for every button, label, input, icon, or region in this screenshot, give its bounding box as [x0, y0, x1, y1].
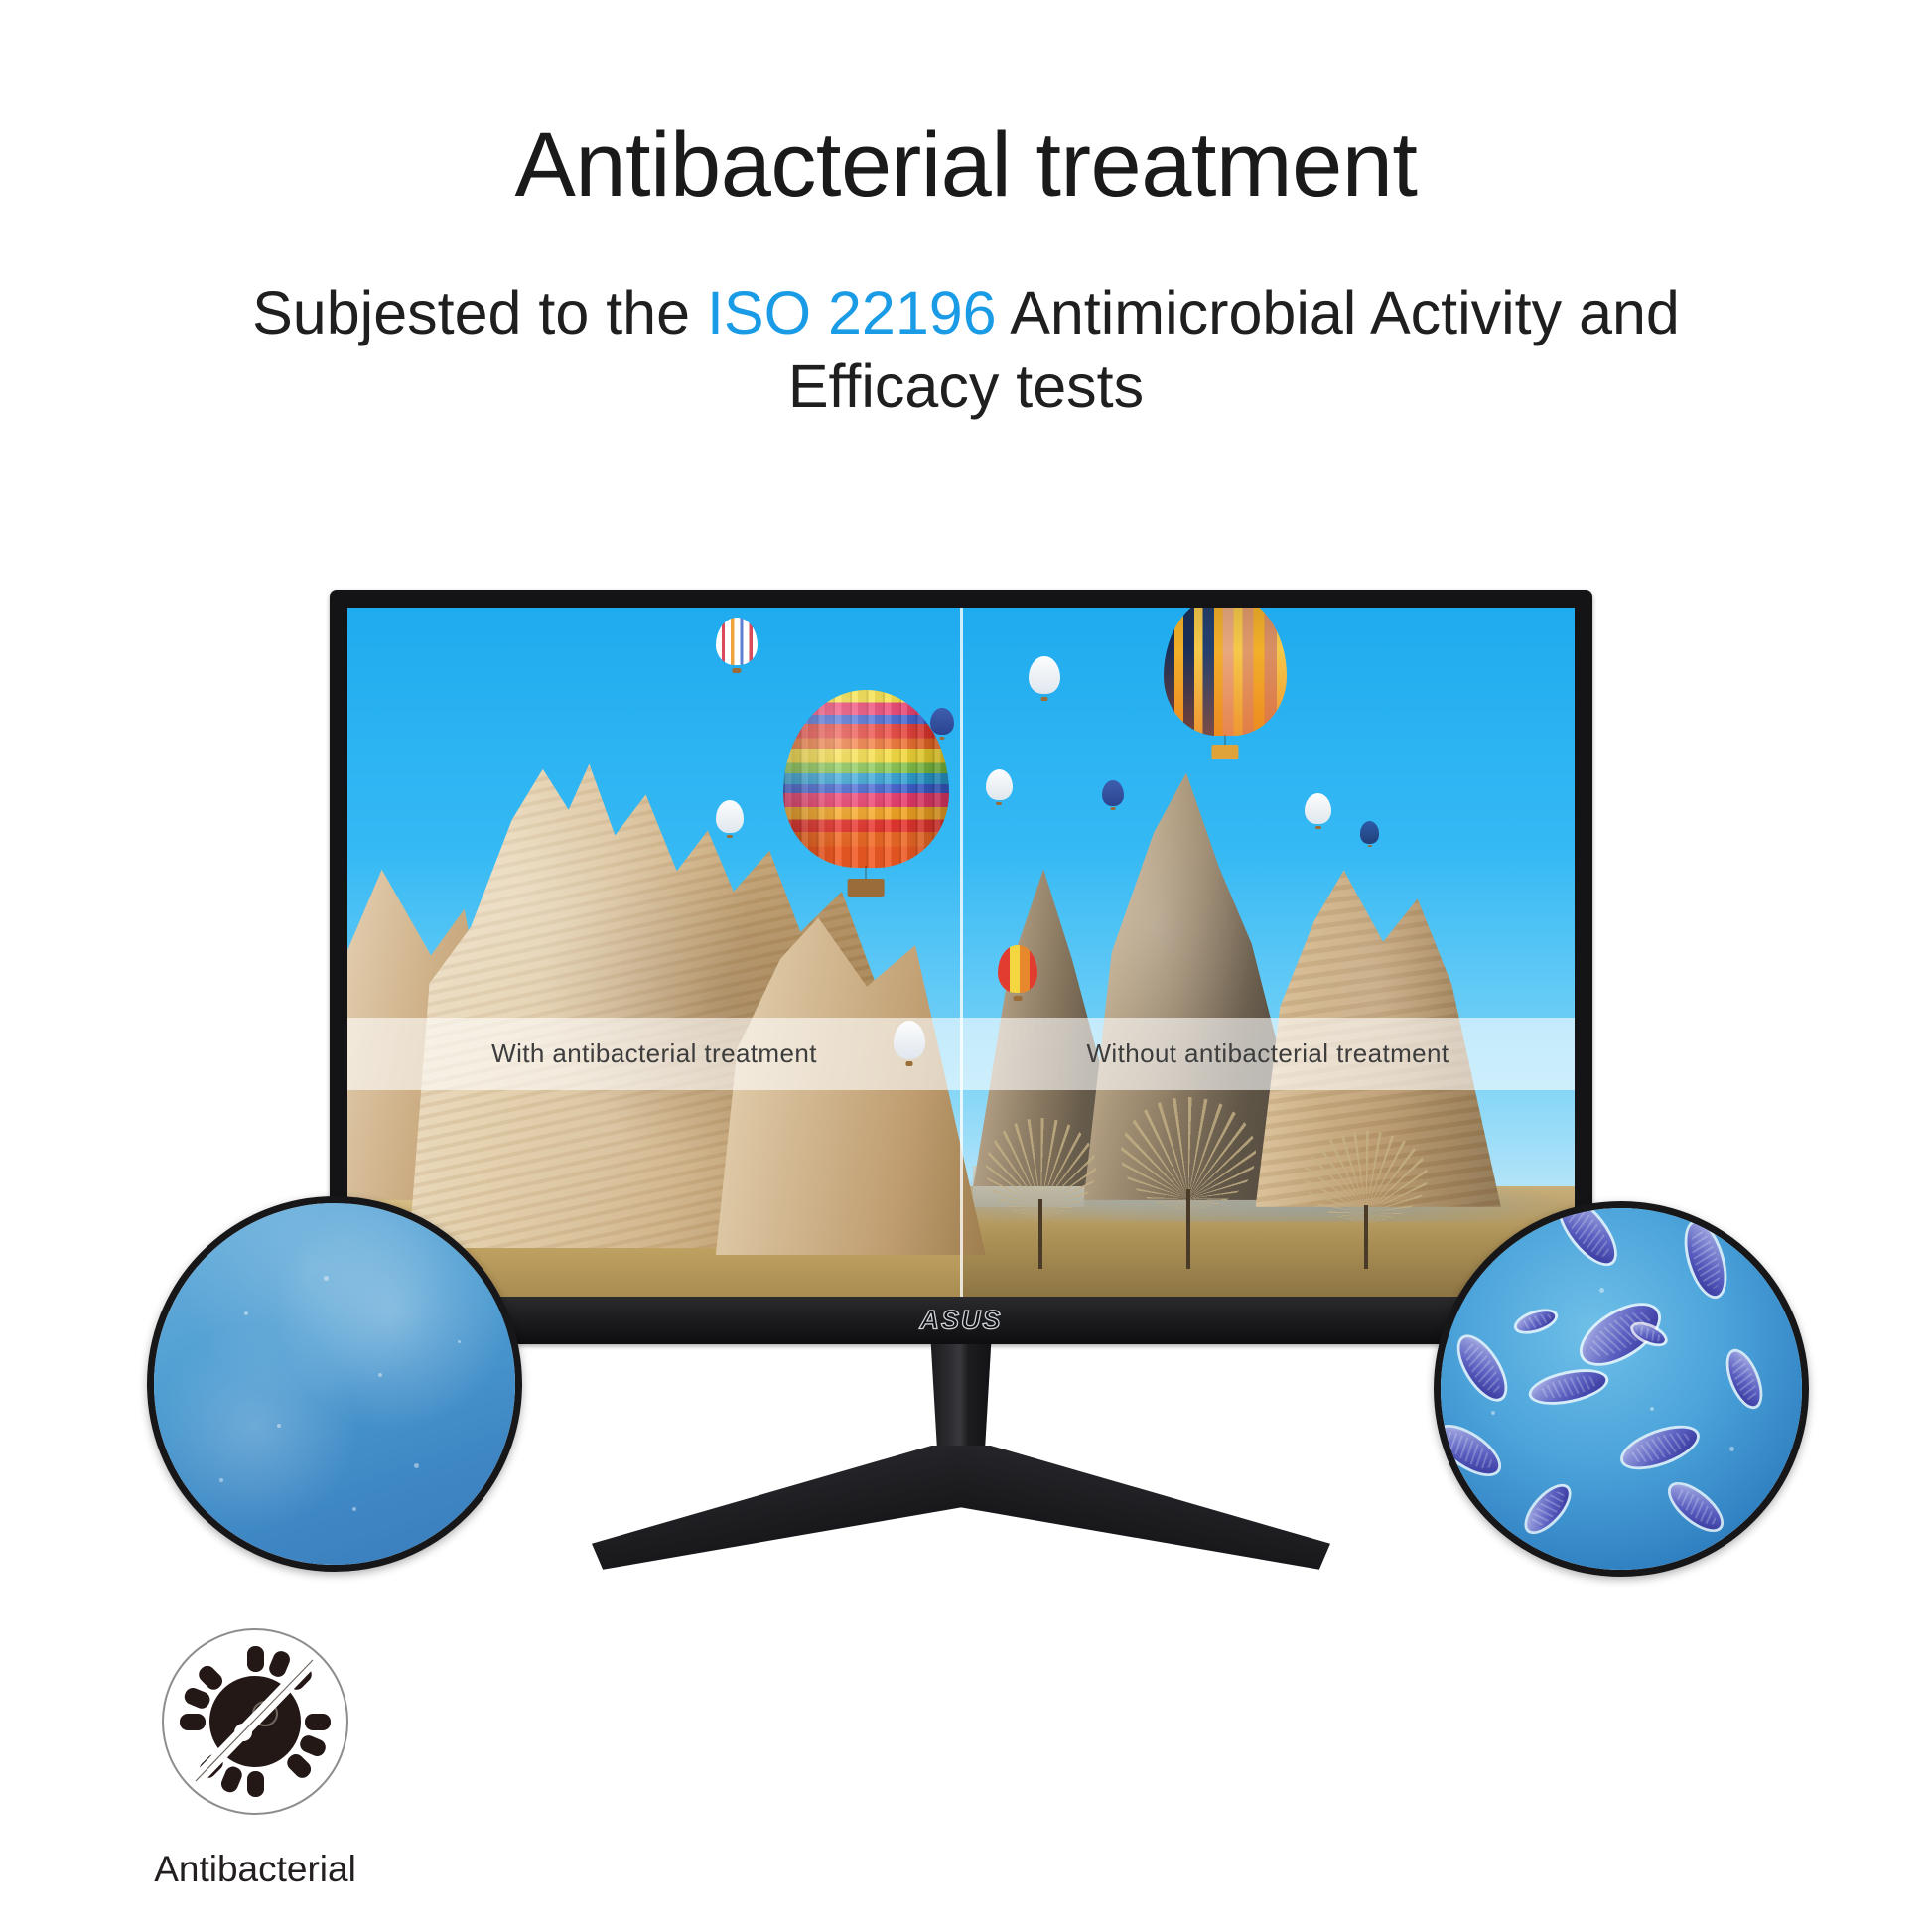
- balloon-basket: [1211, 745, 1238, 759]
- page-title: Antibacterial treatment: [0, 117, 1932, 213]
- balloon-basket: [848, 879, 885, 897]
- label-band-with-treatment: With antibacterial treatment: [347, 1018, 961, 1090]
- label-band-without-treatment: Without antibacterial treatment: [961, 1018, 1575, 1090]
- page-subtitle: Subjested to the ISO 22196 Antimicrobial…: [192, 276, 1740, 424]
- surface-speck: [352, 1507, 356, 1511]
- comparison-divider: [960, 608, 963, 1297]
- balloon-envelope: [1164, 608, 1287, 736]
- surface-speck: [458, 1340, 461, 1343]
- tree-trunk: [1186, 1189, 1190, 1269]
- balloon-envelope: [986, 769, 1013, 800]
- balloon-envelope: [1305, 793, 1331, 824]
- clean-surface-fill: [154, 1203, 515, 1565]
- clean-surface-lens: [147, 1196, 522, 1572]
- contaminated-surface-lens: [1434, 1201, 1809, 1577]
- balloon-basket: [727, 835, 733, 838]
- surface-speck: [1650, 1407, 1654, 1411]
- surface-speck: [277, 1424, 281, 1428]
- tree-trunk: [1364, 1205, 1368, 1269]
- bacterium: [1520, 1480, 1575, 1538]
- balloon-basket: [1041, 697, 1048, 701]
- bacterium: [1664, 1477, 1727, 1537]
- hot-air-balloon-main: [783, 690, 949, 897]
- hot-air-balloon-small-1: [1029, 656, 1060, 701]
- hot-air-balloon-small-2: [716, 800, 744, 838]
- monitor-stand-base-right: [961, 1446, 1330, 1575]
- tree-trunk: [1038, 1199, 1042, 1269]
- monitor-screen: With antibacterial treatment Without ant…: [347, 608, 1575, 1297]
- surface-speck: [244, 1311, 248, 1315]
- hot-air-balloon-small-7: [1360, 821, 1380, 847]
- bacterium: [1515, 1308, 1558, 1335]
- bacterium: [1680, 1219, 1731, 1301]
- page-root: Antibacterial treatment Subjested to the…: [0, 0, 1932, 1932]
- balloon-basket: [906, 1061, 913, 1065]
- bacterium: [1552, 1201, 1624, 1272]
- balloon-envelope: [716, 618, 758, 665]
- balloon-basket: [1111, 807, 1116, 810]
- surface-speck: [378, 1373, 382, 1377]
- hot-air-balloon-low-left: [894, 1021, 925, 1065]
- badge-ring: [162, 1628, 348, 1815]
- surface-speck: [1491, 1411, 1495, 1415]
- badge-label: Antibacterial: [121, 1849, 389, 1890]
- bacterium: [1618, 1420, 1702, 1474]
- bacterium: [1529, 1367, 1608, 1408]
- hot-air-balloon-upper-left: [716, 618, 758, 673]
- bare-tree-1: [986, 1118, 1096, 1270]
- monitor-bottom-bezel: ASUS: [330, 1297, 1592, 1344]
- monitor-panel: With antibacterial treatment Without ant…: [330, 590, 1592, 1344]
- balloon-basket: [1367, 845, 1371, 847]
- label-with-antibacterial-treatment: With antibacterial treatment: [491, 1038, 817, 1069]
- hot-air-balloon-small-6: [1305, 793, 1331, 829]
- subtitle-iso-standard: ISO 22196: [707, 279, 997, 346]
- label-without-antibacterial-treatment: Without antibacterial treatment: [1086, 1038, 1449, 1069]
- balloon-envelope: [716, 800, 744, 833]
- monitor-stand-base-left: [592, 1446, 961, 1575]
- surface-speck: [219, 1478, 223, 1482]
- balloon-envelope: [783, 690, 949, 868]
- antibacterial-germ-crossed-out-icon: [164, 1630, 346, 1813]
- balloon-basket: [732, 668, 741, 673]
- bare-tree-3: [1305, 1131, 1428, 1269]
- surface-speck: [1599, 1288, 1604, 1293]
- balloon-basket: [1315, 826, 1321, 829]
- hot-air-balloon-top-right: [1164, 608, 1287, 759]
- hot-air-balloon-small-5: [1102, 780, 1124, 811]
- antibacterial-badge: Antibacterial: [121, 1628, 389, 1890]
- balloon-basket: [996, 802, 1002, 805]
- asus-logo: ASUS: [919, 1306, 1002, 1336]
- bacteria-colony-fill: [1441, 1208, 1802, 1570]
- balloon-envelope: [1360, 821, 1380, 844]
- surface-speck: [324, 1276, 329, 1281]
- balloon-envelope: [998, 945, 1037, 993]
- bacterium: [1451, 1330, 1514, 1405]
- bacterium: [1434, 1419, 1505, 1482]
- balloon-envelope: [894, 1021, 925, 1059]
- surface-speck: [414, 1463, 419, 1468]
- balloon-envelope: [1029, 656, 1060, 695]
- subtitle-text-before: Subjested to the: [252, 279, 707, 346]
- balloon-envelope: [1102, 780, 1124, 806]
- hot-air-balloon-small-3: [986, 769, 1013, 805]
- balloon-basket: [1014, 996, 1023, 1001]
- bare-tree-2: [1121, 1097, 1256, 1270]
- surface-speck: [1729, 1447, 1734, 1451]
- bacterium: [1723, 1348, 1766, 1411]
- hot-air-balloon-low-right: [998, 945, 1037, 1001]
